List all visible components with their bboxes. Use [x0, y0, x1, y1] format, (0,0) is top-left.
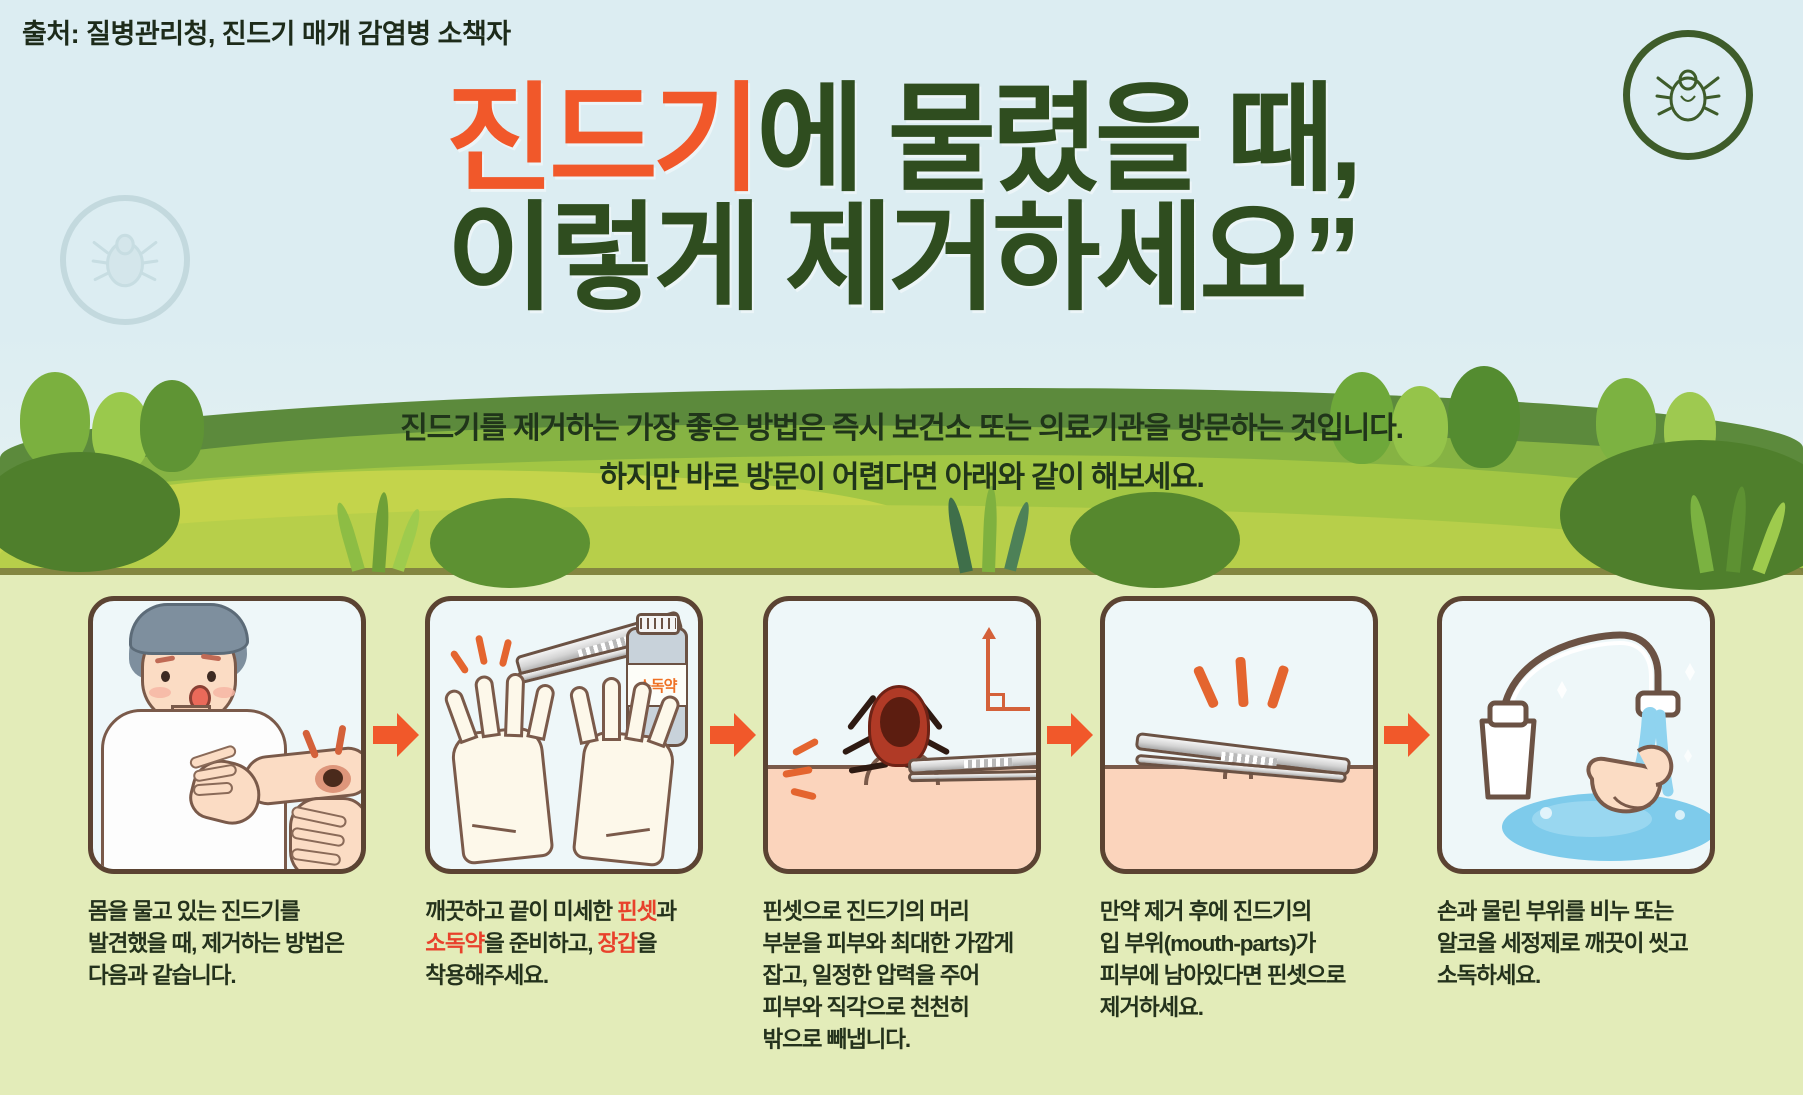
caption-text: 과 — [656, 899, 676, 924]
hair-front-shape — [129, 603, 249, 655]
step-5-illustration — [1437, 596, 1715, 874]
tick-scutum — [880, 697, 920, 747]
step-3: 핀셋으로 진드기의 머리부분을 피부와 최대한 가깝게잡고, 일정한 압력을 주… — [763, 596, 1041, 1056]
caption-line: 핀셋으로 진드기의 머리 — [763, 896, 1041, 928]
glove-right-palm — [572, 729, 677, 868]
caption-line: 잡고, 일정한 압력을 주어 — [763, 960, 1041, 992]
bush-shape — [430, 498, 590, 588]
step-1: 몸을 물고 있는 진드기를발견했을 때, 제거하는 방법은다음과 같습니다. — [88, 596, 366, 992]
caption-text: 을 — [637, 931, 657, 956]
source-attribution: 출처: 질병관리청, 진드기 매개 감염병 소책자 — [22, 12, 511, 51]
step-1-illustration — [88, 596, 366, 874]
arrow-right-icon — [710, 713, 756, 757]
step-1-caption: 몸을 물고 있는 진드기를발견했을 때, 제거하는 방법은다음과 같습니다. — [88, 896, 366, 992]
caption-line: 발견했을 때, 제거하는 방법은 — [88, 928, 366, 960]
bush-shape — [1070, 492, 1240, 588]
caption-keyword: 소독약 — [425, 931, 484, 956]
step-4-caption: 만약 제거 후에 진드기의입 부위(mouth-parts)가피부에 남아있다면… — [1100, 896, 1378, 1024]
caption-text: 부분을 피부와 최대한 가깝게 — [763, 931, 1014, 956]
caption-line: 몸을 물고 있는 진드기를 — [88, 896, 366, 928]
tick-on-skin — [323, 769, 343, 787]
spark — [1192, 665, 1219, 709]
caption-line: 다음과 같습니다. — [88, 960, 366, 992]
spark — [499, 639, 513, 668]
glove-left-finger — [442, 687, 478, 744]
glove-right-finger — [568, 684, 599, 745]
caption-text: 다음과 같습니다. — [88, 963, 236, 988]
spark — [1235, 657, 1248, 708]
step-5: 손과 물린 부위를 비누 또는알코올 세정제로 깨끗이 씻고소독하세요. — [1437, 596, 1715, 992]
step-2: 소독약 깨끗하고 끝이 미세한 핀셋과소독약을 준비하고, 장갑을착용해주세요. — [425, 596, 703, 992]
glove-left-finger — [474, 674, 501, 738]
caption-text: 만약 제거 후에 진드기의 — [1100, 899, 1311, 924]
caption-text: 소독하세요. — [1437, 963, 1540, 988]
blush-right — [213, 687, 235, 698]
infographic-poster: 출처: 질병관리청, 진드기 매개 감염병 소책자 진드기에 물렸을 때, 이렇… — [0, 0, 1803, 1095]
step-5-caption: 손과 물린 부위를 비누 또는알코올 세정제로 깨끗이 씻고소독하세요. — [1437, 896, 1715, 992]
blush-left — [149, 687, 171, 698]
arrow-gap-4 — [1378, 596, 1437, 874]
spark — [450, 649, 470, 674]
subtitle-line-2: 하지만 바로 방문이 어렵다면 아래와 같이 해보세요. — [0, 454, 1803, 503]
subtitle: 진드기를 제거하는 가장 좋은 방법은 즉시 보건소 또는 의료기관을 방문하는… — [0, 405, 1803, 502]
caption-line: 소독약을 준비하고, 장갑을 — [425, 928, 703, 960]
title-highlight: 진드기 — [446, 74, 757, 206]
caption-text: 잡고, 일정한 압력을 주어 — [763, 963, 980, 988]
caption-text: 알코올 세정제로 깨끗이 씻고 — [1437, 931, 1688, 956]
title-line-2: 이렇게 제거하세요” — [0, 197, 1803, 322]
caption-line: 알코올 세정제로 깨끗이 씻고 — [1437, 928, 1715, 960]
step-2-caption: 깨끗하고 끝이 미세한 핀셋과소독약을 준비하고, 장갑을착용해주세요. — [425, 896, 703, 992]
caption-line: 제거하세요. — [1100, 992, 1378, 1024]
title-line-1: 진드기에 물렸을 때, — [0, 78, 1803, 203]
right-angle-square — [989, 693, 1005, 709]
title-rest: 에 물렸을 때, — [756, 74, 1357, 206]
glove-right-finger — [602, 677, 621, 741]
step-2-illustration: 소독약 — [425, 596, 703, 874]
handwashing-scene — [1442, 601, 1715, 874]
glove-left-finger — [504, 673, 525, 738]
angle-arrow-head — [982, 627, 996, 639]
caption-keyword: 장갑 — [598, 931, 637, 956]
page-title: 진드기에 물렸을 때, 이렇게 제거하세요” — [0, 78, 1803, 322]
arrow-gap-2 — [703, 596, 762, 874]
spark — [1266, 665, 1289, 710]
caption-text: 밖으로 빼냅니다. — [763, 1027, 911, 1052]
caption-line: 손과 물린 부위를 비누 또는 — [1437, 896, 1715, 928]
spark — [475, 635, 488, 666]
spark — [791, 737, 819, 756]
arrow-right-icon — [373, 713, 419, 757]
step-3-illustration — [763, 596, 1041, 874]
caption-line: 밖으로 빼냅니다. — [763, 1024, 1041, 1056]
caption-line: 피부와 직각으로 천천히 — [763, 992, 1041, 1024]
caption-line: 착용해주세요. — [425, 960, 703, 992]
step-4: 만약 제거 후에 진드기의입 부위(mouth-parts)가피부에 남아있다면… — [1100, 596, 1378, 1024]
caption-text: 깨끗하고 끝이 미세한 — [425, 899, 617, 924]
caption-text: 핀셋으로 진드기의 머리 — [763, 899, 969, 924]
caption-text: 피부에 남아있다면 핀셋으로 — [1100, 963, 1346, 988]
glove-left-finger — [526, 682, 556, 741]
caption-line: 입 부위(mouth-parts)가 — [1100, 928, 1378, 960]
caption-text: 을 준비하고, — [484, 931, 597, 956]
arrow-right-icon — [1384, 713, 1430, 757]
subtitle-line-1: 진드기를 제거하는 가장 좋은 방법은 즉시 보건소 또는 의료기관을 방문하는… — [0, 405, 1803, 454]
arrow-right-icon — [1047, 713, 1093, 757]
caption-text: 피부와 직각으로 천천히 — [763, 995, 969, 1020]
caption-text: 착용해주세요. — [425, 963, 548, 988]
caption-line: 부분을 피부와 최대한 가깝게 — [763, 928, 1041, 960]
eye-right — [207, 671, 216, 682]
caption-line: 깨끗하고 끝이 미세한 핀셋과 — [425, 896, 703, 928]
steps-row: 몸을 물고 있는 진드기를발견했을 때, 제거하는 방법은다음과 같습니다. — [0, 596, 1803, 1056]
caption-text: 몸을 물고 있는 진드기를 — [88, 899, 299, 924]
caption-text: 제거하세요. — [1100, 995, 1203, 1020]
caption-line: 피부에 남아있다면 핀셋으로 — [1100, 960, 1378, 992]
caption-text: 손과 물린 부위를 비누 또는 — [1437, 899, 1673, 924]
step-3-caption: 핀셋으로 진드기의 머리부분을 피부와 최대한 가깝게잡고, 일정한 압력을 주… — [763, 896, 1041, 1056]
arrow-gap-1 — [366, 596, 425, 874]
caption-line: 만약 제거 후에 진드기의 — [1100, 896, 1378, 928]
arrow-gap-3 — [1041, 596, 1100, 874]
eye-left — [161, 671, 170, 682]
glove-left-palm — [450, 725, 555, 866]
caption-text: 입 부위(mouth-parts)가 — [1100, 931, 1315, 956]
caption-text: 발견했을 때, 제거하는 방법은 — [88, 931, 344, 956]
caption-keyword: 핀셋 — [617, 899, 656, 924]
step-4-illustration — [1100, 596, 1378, 874]
bottle-cap-ridges — [640, 618, 676, 629]
caption-line: 소독하세요. — [1437, 960, 1715, 992]
